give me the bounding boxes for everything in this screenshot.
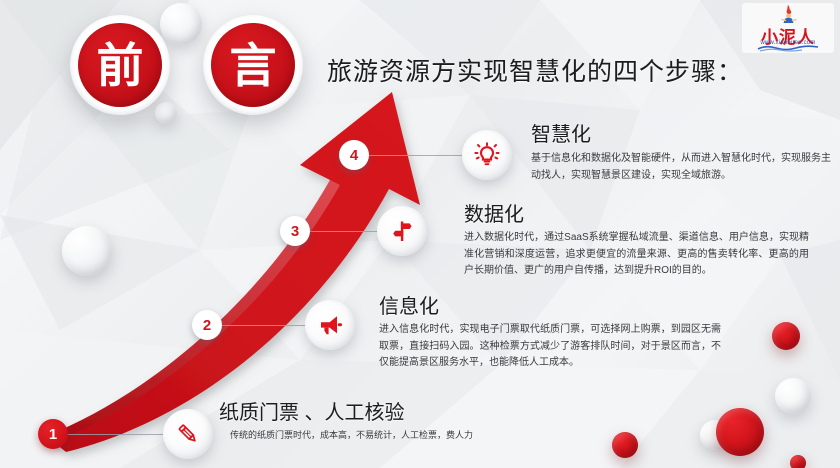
pencil-icon xyxy=(175,421,201,447)
step-4-badge[interactable]: 4 xyxy=(339,140,369,170)
step-1-icon-circle[interactable] xyxy=(163,409,213,459)
step-3-number: 3 xyxy=(291,224,299,239)
step-4-body: 基于信息化和数据化及智能硬件，从而进入智慧化时代，实现服务主动找人，实现智慧景区… xyxy=(531,151,831,184)
decorative-sphere xyxy=(62,226,112,276)
step-1-body: 传统的纸质门票时代，成本高，不易统计，人工检票，费人力 xyxy=(230,428,550,443)
step-3-badge[interactable]: 3 xyxy=(280,216,310,246)
step-1-number: 1 xyxy=(49,427,57,442)
header-badge-2: 言 xyxy=(203,15,303,115)
header-badge-2-char: 言 xyxy=(230,42,277,89)
slide-canvas: 前 言 旅游资源方实现智慧化的四个步骤： 小泥人 www.xiaoniren.c… xyxy=(0,0,840,468)
header-badge-2-inner: 言 xyxy=(211,23,295,107)
step-4-number: 4 xyxy=(350,148,358,163)
header-badge-1: 前 xyxy=(70,15,170,115)
step-2-title: 信息化 xyxy=(379,290,439,319)
brand-logo[interactable]: 小泥人 www.xiaoniren.com xyxy=(742,3,834,53)
megaphone-icon xyxy=(317,313,343,337)
signpost-icon xyxy=(390,219,414,243)
step-1-leader xyxy=(62,434,174,435)
step-4-title: 智慧化 xyxy=(531,118,591,147)
step-4-leader xyxy=(358,155,470,156)
wave-icon xyxy=(756,44,820,52)
step-3-icon-circle[interactable] xyxy=(377,206,427,256)
decorative-sphere-red xyxy=(790,455,806,468)
step-2-body: 进入信息化时代，实现电子门票取代纸质门票，可选择网上购票，到园区无需取票，直接扫… xyxy=(379,322,721,372)
step-2-leader xyxy=(222,325,312,326)
step-2-icon-circle[interactable] xyxy=(305,300,355,350)
decorative-sphere-red xyxy=(772,322,800,350)
header-badge-1-inner: 前 xyxy=(78,23,162,107)
step-2-number: 2 xyxy=(203,318,211,333)
lightbulb-icon xyxy=(474,142,500,168)
decorative-sphere-red xyxy=(612,432,638,458)
page-title: 旅游资源方实现智慧化的四个步骤： xyxy=(327,52,743,88)
decorative-sphere xyxy=(775,378,811,414)
step-2-badge[interactable]: 2 xyxy=(192,310,222,340)
flame-mascot-icon xyxy=(776,4,802,24)
step-3-leader xyxy=(302,231,384,232)
header-badge-1-char: 前 xyxy=(97,42,144,89)
decorative-sphere xyxy=(160,3,202,45)
step-3-body: 进入数据化时代，通过SaaS系统掌握私域流量、渠道信息、用户信息，实现精准化营销… xyxy=(464,230,809,280)
step-1-title: 纸质门票 、人工核验 xyxy=(219,396,405,425)
decorative-sphere xyxy=(155,102,177,124)
decorative-sphere-red xyxy=(716,408,764,456)
step-1-badge[interactable]: 1 xyxy=(38,419,68,449)
step-4-icon-circle[interactable] xyxy=(462,130,512,180)
step-3-title: 数据化 xyxy=(464,198,524,227)
